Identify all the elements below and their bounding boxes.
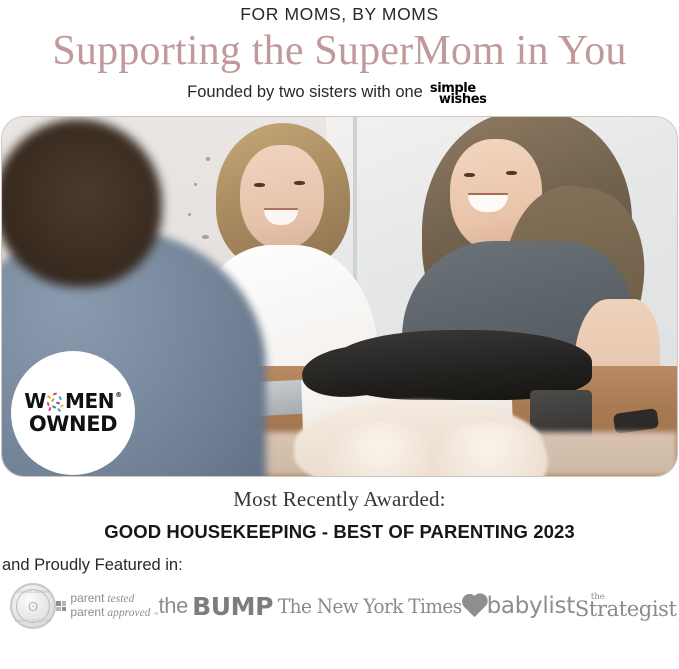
eyebrow-text: FOR MOMS, BY MOMS (0, 4, 679, 26)
hero-photo: W MEN ® OWNED (2, 117, 677, 476)
featured-in-label: and Proudly Featured in: (2, 556, 679, 575)
simple-wishes-line2: wishes (439, 93, 487, 106)
seal-icon: CRIBSIE AWARDS ʘ PARENT SELECTED (10, 583, 56, 629)
seal-glyph-icon: ʘ (28, 600, 38, 613)
scene-woman-b-eye-left (464, 173, 475, 177)
women-owned-w: W (24, 391, 46, 411)
scene-woman-b-eye-right (506, 171, 517, 175)
babylist-text: babylist (487, 593, 575, 619)
ptpa-line1: parent tested (70, 592, 158, 606)
page-title: Supporting the SuperMom in You (0, 29, 679, 74)
registered-trademark-icon: ® (115, 392, 122, 399)
strategist-word: Strategist (575, 599, 677, 620)
women-owned-line2: OWNED (29, 414, 117, 435)
cribsie-award-seal: CRIBSIE AWARDS ʘ PARENT SELECTED (10, 583, 56, 629)
awards-block: Most Recently Awarded: GOOD HOUSEKEEPING… (0, 487, 679, 543)
seal-ring-bottom: PARENT SELECTED (12, 619, 54, 623)
women-owned-line1: W MEN ® (24, 391, 121, 411)
scene-woman-a-face (240, 145, 324, 249)
women-owned-men: MEN (65, 391, 114, 411)
header-block: FOR MOMS, BY MOMS Supporting the SuperMo… (0, 0, 679, 106)
the-bump-logo: the BUMP (158, 592, 273, 621)
scene-foreground-person-head (2, 119, 162, 287)
nyt-text: The New York Times (278, 595, 462, 618)
award-title-text: GOOD HOUSEKEEPING - BEST OF PARENTING 20… (0, 521, 679, 543)
confetti-icon (46, 393, 65, 412)
simple-wishes-logo: simple wishes (430, 81, 492, 107)
babylist-logo: babylist (467, 593, 575, 619)
strategist-the: the (591, 592, 605, 602)
ptpa-parent-2: parent (70, 606, 104, 620)
featured-logos-row: CRIBSIE AWARDS ʘ PARENT SELECTED parent … (0, 583, 679, 629)
subtitle-text: Founded by two sisters with one (187, 83, 423, 103)
women-owned-badge: W MEN ® OWNED (11, 351, 135, 475)
ptpa-line2: parent approved ™ (70, 606, 158, 620)
ptpa-approved: approved (107, 607, 150, 620)
the-new-york-times-logo: The New York Times (273, 595, 467, 618)
seal-ring-top: CRIBSIE AWARDS (12, 590, 54, 594)
ptpa-parent-1: parent (70, 592, 104, 606)
parent-tested-parent-approved-logo: parent tested parent approved ™ (56, 592, 158, 620)
grid-squares-icon (56, 601, 66, 611)
award-lead-text: Most Recently Awarded: (0, 487, 679, 512)
ptpa-tested: tested (107, 593, 134, 606)
scene-woman-a-eye-left (254, 183, 265, 187)
heart-icon (464, 596, 485, 617)
scene-woman-a-eye-right (294, 181, 305, 185)
the-strategist-logo: the Strategist (575, 593, 677, 620)
subtitle: Founded by two sisters with one simple w… (0, 80, 679, 106)
bump-word: BUMP (192, 592, 273, 621)
bump-the: the (158, 593, 188, 619)
